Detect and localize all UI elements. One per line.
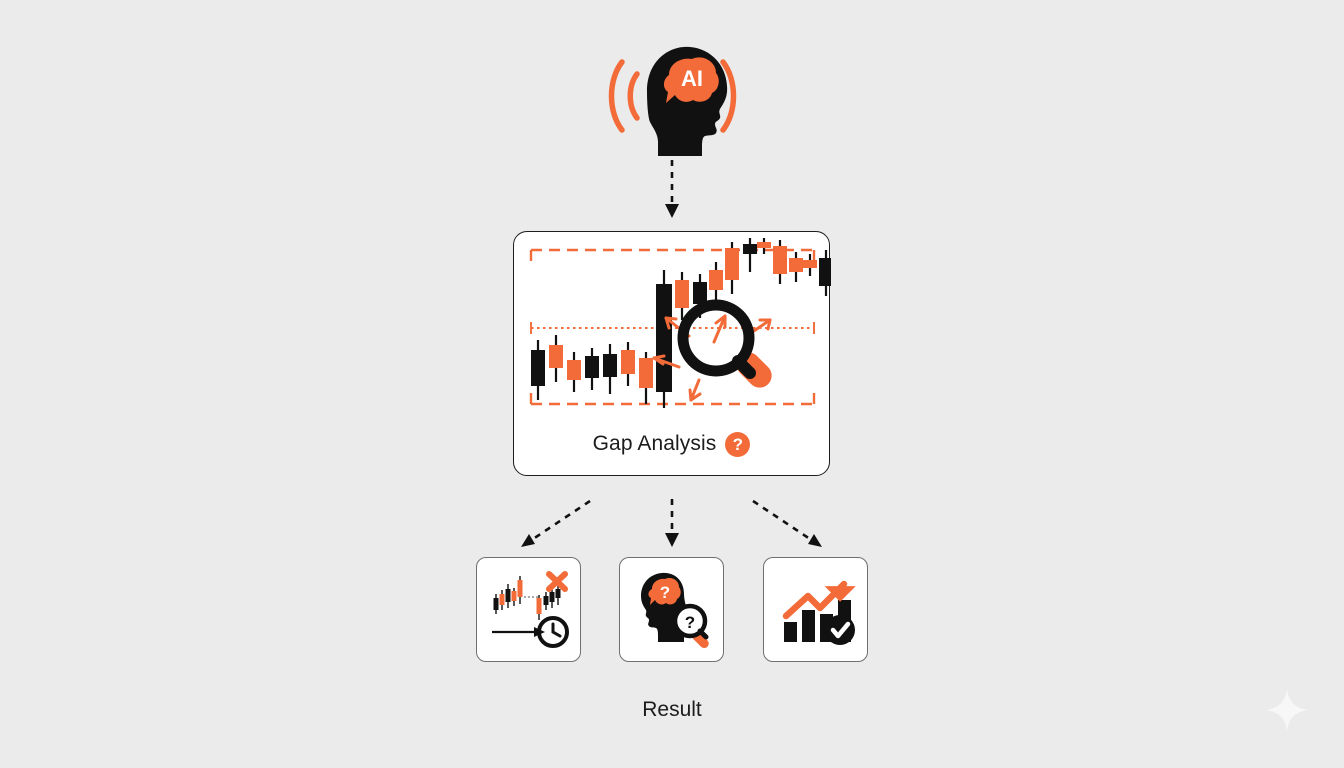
head-question-magnifier-icon: ? ?: [620, 558, 723, 661]
diagram-canvas: AI: [0, 0, 1344, 768]
card-title-row: Gap Analysis ?: [514, 420, 829, 468]
connector-card-to-result-2: [650, 495, 694, 555]
question-mark-badge-icon[interactable]: ?: [725, 432, 750, 457]
connector-card-to-result-1: [505, 495, 615, 555]
magnifier-question-icon: ?: [675, 606, 711, 650]
missed-timing-card[interactable]: [476, 557, 581, 662]
page-title: Gap Analysis: [593, 432, 717, 456]
uncertainty-card[interactable]: ? ?: [619, 557, 724, 662]
neck-stub: [668, 154, 690, 156]
x-mark-icon: [549, 574, 565, 589]
bar-chart-trend-check-icon: [764, 558, 867, 661]
magnifying-glass-icon: [683, 305, 777, 393]
result-label: Result: [0, 698, 1344, 722]
connector-card-to-result-3: [728, 495, 838, 555]
bottom-gap-bracket: [531, 393, 814, 404]
arrow-down: [690, 380, 700, 400]
check-circle-icon: [825, 615, 855, 645]
gap-analysis-card[interactable]: Gap Analysis ?: [513, 231, 830, 476]
brain-question-label: ?: [660, 583, 670, 602]
ai-head: AI: [592, 36, 752, 156]
chart-x-clock-icon: [477, 558, 580, 661]
top-gap-bracket: [531, 250, 814, 261]
svg-text:?: ?: [685, 613, 695, 632]
growth-verified-card[interactable]: [763, 557, 868, 662]
ai-label: AI: [681, 66, 703, 91]
sparkle-icon: [1264, 687, 1310, 733]
arrow-up: [714, 316, 725, 342]
connector-head-to-card: [650, 160, 694, 228]
sound-wave-left-icon: [612, 62, 638, 130]
candlestick-chart-icon: [514, 232, 831, 422]
